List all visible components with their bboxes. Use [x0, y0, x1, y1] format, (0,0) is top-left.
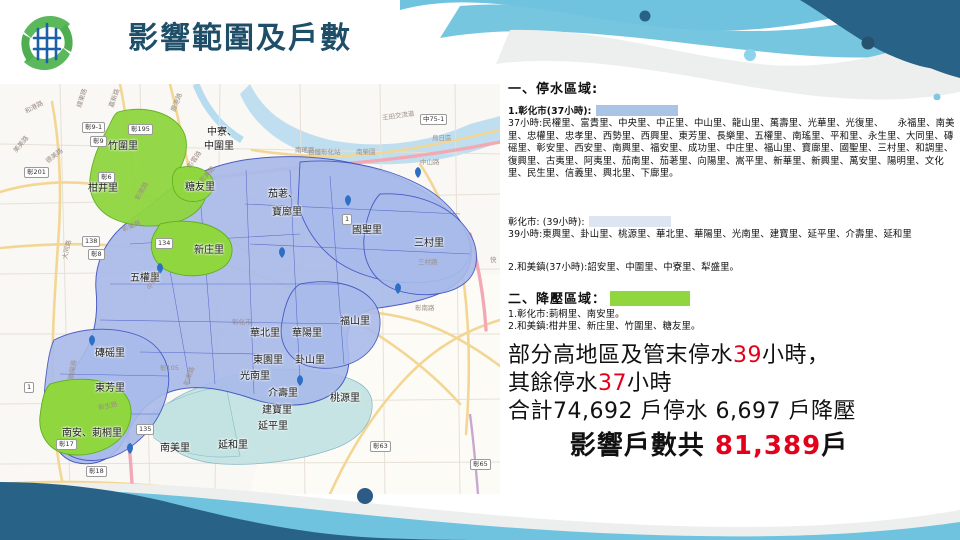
map-road-badge: 彰65 [470, 459, 491, 470]
map-road-badge: 彰63 [370, 441, 391, 452]
suspension-item3-text: 2.和美鎮(37小時):詔安里、中圍里、中寮里、犁盛里。 [508, 262, 956, 274]
summary-total-post: 戶 [821, 431, 848, 461]
map-village-label: 糖友里 [185, 183, 215, 194]
summary-block: 部分高地區及管末停水39小時， 其餘停水37小時 合計74,692 戶停水 6,… [508, 342, 956, 462]
map-street-name: 烏日區 [432, 132, 452, 142]
swatch-blue-39h [589, 216, 671, 227]
pressure-block: 二、降壓區域： 1.彰化市:莿桐里、南安里。 2.和美鎮:柑井里、新庄里、竹圍里… [508, 288, 956, 334]
map-village-label: 南安、莿桐里 [62, 429, 122, 440]
map-street-name: 彰105 [160, 362, 179, 372]
map-road-badge: 彰195 [128, 124, 153, 135]
suspension-item2-label: 彰化市: (39小時): [508, 217, 585, 228]
summary-line-2: 其餘停水37小時 [508, 370, 956, 398]
map-road-badge: 彰17 [56, 439, 77, 450]
map-village-label: 卦山里 [295, 356, 325, 367]
pressure-line-1: 1.彰化市:莿桐里、南安里。 [508, 309, 956, 321]
suspension-item1-label-row: 1.彰化市(37小時): [508, 105, 956, 118]
map-village-label: 茄荖、 [268, 190, 298, 201]
map-road-badge: 彰18 [86, 466, 107, 477]
map-road-badge: 彰201 [24, 167, 49, 178]
map-street-name: 彰化市 [232, 316, 252, 326]
summary-line-1-post: 小時， [762, 343, 830, 368]
summary-line-2-post: 小時 [627, 371, 672, 396]
slide-root: 影響範圍及戶數 [0, 0, 960, 540]
map-street-name: 台鐵彰化站 [308, 146, 341, 156]
suspension-item3-block: 2.和美鎮(37小時):詔安里、中圍里、中寮里、犁盛里。 [508, 262, 956, 274]
suspension-item1-block: 1.彰化市(37小時): 37小時:民權里、富貴里、中央里、中正里、中山里、龍山… [508, 105, 956, 180]
pressure-line-2: 2.和美鎮:柑井里、新庄里、竹圍里、糖友里。 [508, 321, 956, 333]
map-village-label: 三村里 [414, 239, 444, 250]
map-village-label: 南美里 [160, 444, 190, 455]
pressure-heading: 二、降壓區域： [508, 292, 606, 307]
map-road-badge: 1 [24, 382, 34, 393]
map-village-label: 竹圍里 [108, 142, 138, 153]
map-village-label: 國聖里 [352, 226, 382, 237]
map-road-badge: 1 [342, 214, 352, 225]
suspension-heading-block: 一、停水區域: [508, 78, 956, 97]
suspension-item2-label-row: 彰化市: (39小時): [508, 216, 956, 229]
map-village-label: 中圍里 [204, 142, 234, 153]
summary-line-3: 合計74,692 戶停水 6,697 戶降壓 [508, 398, 956, 426]
summary-line-2-hours: 37 [598, 371, 627, 396]
map-village-label: 延平里 [258, 422, 288, 433]
map-road-badge: 134 [155, 238, 173, 249]
map-village-label: 桃源里 [330, 394, 360, 405]
map-village-label: 東園里 [253, 356, 283, 367]
summary-total-pre: 影響戶數共 [570, 431, 715, 461]
map-village-label: 福山里 [340, 317, 370, 328]
pressure-heading-row: 二、降壓區域： [508, 288, 956, 307]
suspension-item1-text: 37小時:民權里、富貴里、中央里、中正里、中山里、龍山里、萬壽里、光華里、光復里… [508, 118, 956, 180]
summary-line-1: 部分高地區及管末停水39小時， [508, 342, 956, 370]
map-village-label: 華陽里 [292, 329, 322, 340]
map-road-badge: 135 [136, 424, 154, 435]
map-village-label: 寶廍里 [272, 208, 302, 219]
map-road-badge: 彰6 [98, 172, 115, 183]
taiwan-water-corporation-logo [14, 10, 80, 76]
map-road-badge: 彰23 [20, 484, 41, 494]
map-village-label: 介壽里 [268, 389, 298, 400]
map-street-name: 三村路 [418, 256, 438, 266]
map-village-label: 中寮、 [207, 128, 237, 139]
map-village-label: 光南里 [240, 372, 270, 383]
suspension-heading: 一、停水區域: [508, 78, 956, 97]
summary-total-line: 影響戶數共 81,389戶 [508, 430, 956, 462]
suspension-item2-text: 39小時:東興里、卦山里、桃源里、華北里、華陽里、光南里、建寶里、延平里、介壽里… [508, 229, 956, 241]
summary-line-1-pre: 部分高地區及管末停水 [508, 343, 733, 368]
map-village-label: 新庄里 [194, 246, 224, 257]
map-street-name: 快 [490, 254, 497, 264]
suspension-item2-block: 彰化市: (39小時): 39小時:東興里、卦山里、桃源里、華北里、華陽里、光南… [508, 216, 956, 242]
map-village-label: 建寶里 [262, 406, 292, 417]
map-street-name: 中山路 [420, 156, 440, 166]
map-street-name: 彰南路 [415, 302, 435, 312]
summary-line-1-hours: 39 [733, 343, 762, 368]
impact-area-map[interactable]: 竹圍里柑井里中寮、中圍里糖友里新庄里茄荖、寶廍里國聖里三村里五權里磚磘里東芳里南… [0, 84, 500, 494]
map-village-label: 東芳里 [95, 384, 125, 395]
suspension-item1-label: 1.彰化市(37小時): [508, 106, 592, 117]
swatch-blue-37h [596, 105, 678, 116]
map-road-badge: 彰9 [90, 136, 107, 147]
swatch-green [610, 291, 690, 306]
map-village-label: 華北里 [250, 329, 280, 340]
map-village-label: 磚磘里 [95, 349, 125, 360]
map-road-badge: 中75-1 [420, 114, 447, 125]
map-road-badge: 彰8 [88, 249, 105, 260]
map-road-badge: 彰9-1 [82, 122, 105, 133]
map-road-badge: 138 [82, 236, 100, 247]
summary-line-2-pre: 其餘停水 [508, 371, 598, 396]
map-village-label: 柑井里 [88, 184, 118, 195]
map-village-label: 延和里 [218, 441, 248, 452]
page-title: 影響範圍及戶數 [128, 24, 352, 54]
summary-total-number: 81,389 [715, 431, 821, 461]
map-street-name: 南榮園 [356, 146, 376, 156]
